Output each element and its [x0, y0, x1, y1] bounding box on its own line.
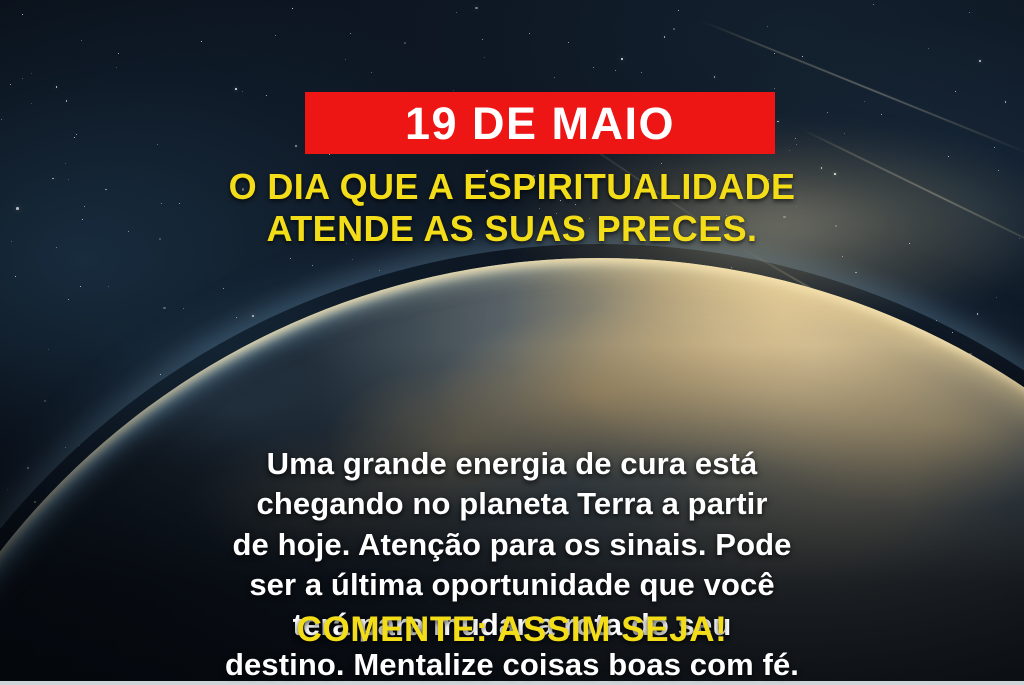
body-line-3: de hoje. Atenção para os sinais. Pode [0, 525, 1024, 565]
body-line-4: ser a última oportunidade que você [0, 565, 1024, 605]
body-line-1: Uma grande energia de cura está [0, 444, 1024, 484]
poster-content: 19 DE MAIO O DIA QUE A ESPIRITUALIDADE A… [0, 0, 1024, 685]
call-to-action-text: COMENTE: ASSIM SEJA! [0, 612, 1024, 647]
date-banner-text: 19 DE MAIO [405, 101, 675, 146]
date-banner: 19 DE MAIO [305, 92, 775, 154]
headline-line-2: ATENDE AS SUAS PRECES. [0, 208, 1024, 250]
headline-line-1: O DIA QUE A ESPIRITUALIDADE [0, 166, 1024, 208]
body-line-6: destino. Mentalize coisas boas com fé. [0, 645, 1024, 685]
headline: O DIA QUE A ESPIRITUALIDADE ATENDE AS SU… [0, 166, 1024, 251]
body-line-2: chegando no planeta Terra a partir [0, 484, 1024, 524]
poster-canvas: 19 DE MAIO O DIA QUE A ESPIRITUALIDADE A… [0, 0, 1024, 685]
